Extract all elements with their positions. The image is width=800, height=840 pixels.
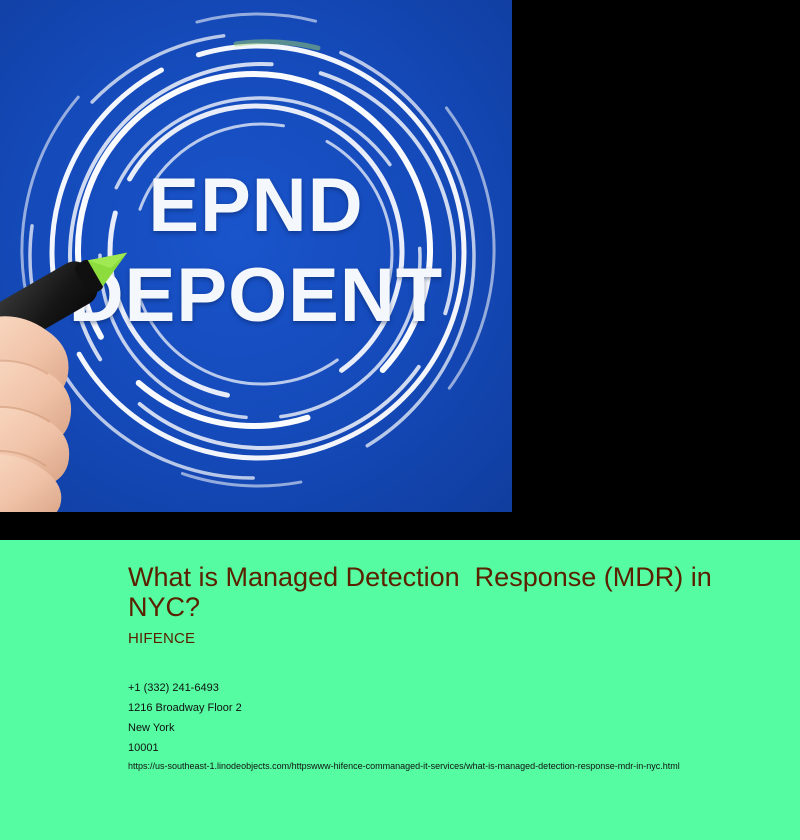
brand-name: HIFENCE [128, 630, 195, 647]
source-url[interactable]: https://us-southeast-1.linodeobjects.com… [128, 760, 800, 772]
hand-with-marker-icon [0, 228, 176, 512]
hero-image: EPND DEPOENT [0, 0, 512, 512]
contact-postal-code: 10001 [128, 738, 242, 758]
contact-street: 1216 Broadway Floor 2 [128, 698, 242, 718]
page-title: What is Managed Detection Response (MDR)… [128, 562, 768, 622]
contact-phone[interactable]: +1 (332) 241-6493 [128, 678, 242, 698]
contact-city: New York [128, 718, 242, 738]
contact-block: +1 (332) 241-6493 1216 Broadway Floor 2 … [128, 678, 242, 758]
info-panel: What is Managed Detection Response (MDR)… [0, 540, 800, 840]
